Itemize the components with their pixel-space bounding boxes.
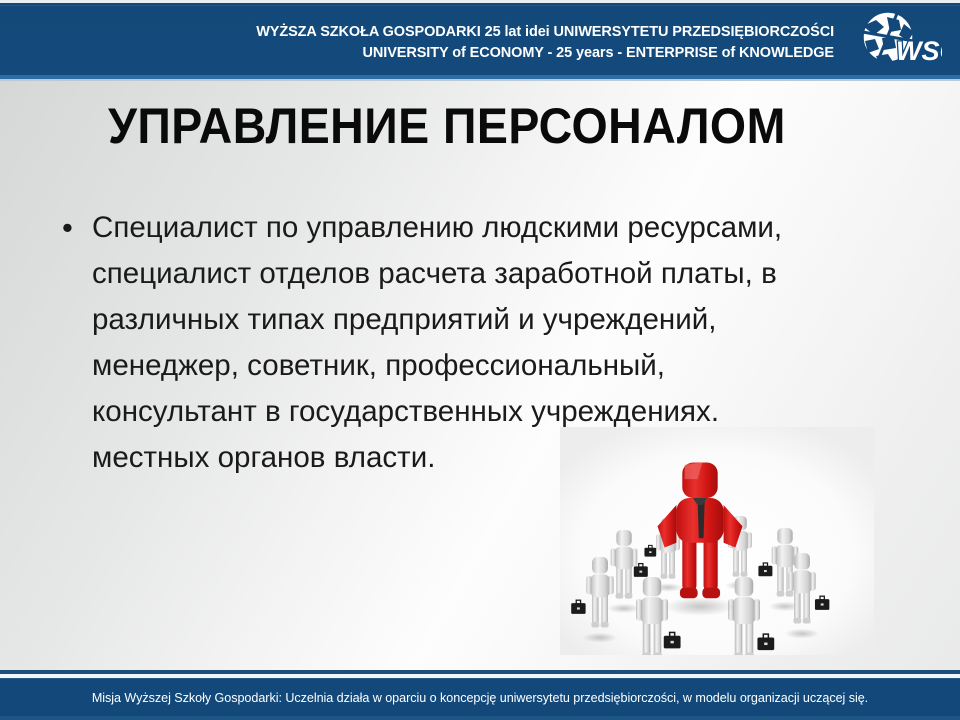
slide-footer: Misja Wyższej Szkoły Gospodarki: Uczelni… bbox=[0, 662, 960, 720]
footer-band-lowlight bbox=[0, 716, 960, 720]
bullet-marker: • bbox=[56, 205, 92, 251]
presentation-slide: WYŻSZA SZKOŁA GOSPODARKI 25 lat idei UNI… bbox=[0, 0, 960, 720]
logo-wordmark: WSG bbox=[896, 36, 942, 66]
slide-header: WYŻSZA SZKOŁA GOSPODARKI 25 lat idei UNI… bbox=[0, 0, 960, 84]
header-accent-stripe-light bbox=[0, 79, 960, 81]
wsg-globe-logo: WSG bbox=[846, 8, 942, 74]
team-leader-illustration bbox=[560, 427, 874, 655]
header-title-polish: WYŻSZA SZKOŁA GOSPODARKI 25 lat idei UNI… bbox=[224, 22, 834, 43]
bullet-text-line-3: различных типах предприятий и учреждений… bbox=[92, 297, 894, 343]
page-title: УПРАВЛЕНИЕ ПЕРСОНАЛОМ bbox=[108, 97, 852, 155]
bullet-text-line-1: Специалист по управлению людскими ресурс… bbox=[92, 205, 894, 251]
footer-mission-text: Misja Wyższej Szkoły Gospodarki: Uczelni… bbox=[0, 678, 960, 720]
header-inner-hairline bbox=[0, 5, 960, 6]
header-title-block: WYŻSZA SZKOŁA GOSPODARKI 25 lat idei UNI… bbox=[224, 22, 834, 64]
bullet-text-line-4: менеджер, советник, профессиональный, bbox=[92, 343, 894, 389]
bullet-text-line-2: специалист отделов расчета заработной пл… bbox=[92, 251, 894, 297]
header-title-english: UNIVERSITY of ECONOMY - 25 years - ENTER… bbox=[224, 43, 834, 64]
